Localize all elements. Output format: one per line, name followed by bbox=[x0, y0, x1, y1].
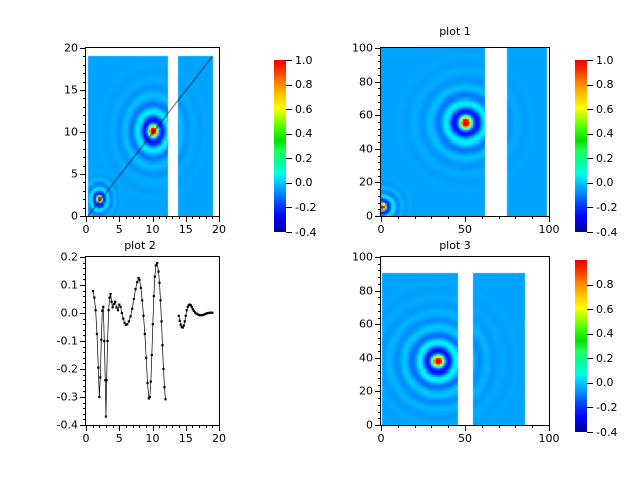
y-minor-tick bbox=[378, 371, 381, 372]
colorbar-tick-label: -0.4 bbox=[596, 227, 617, 238]
y-minor-tick bbox=[83, 324, 86, 325]
y-major-tick bbox=[80, 132, 86, 133]
plot2-marker bbox=[126, 323, 128, 325]
x-minor-tick bbox=[113, 425, 114, 428]
x-minor-tick bbox=[192, 216, 193, 219]
y-minor-tick bbox=[378, 61, 381, 62]
y-minor-tick bbox=[83, 65, 86, 66]
colorbar-tick-label: -0.2 bbox=[295, 202, 316, 213]
y-minor-tick bbox=[83, 358, 86, 359]
x-minor-tick bbox=[133, 425, 134, 428]
y-tick-label: 20 bbox=[46, 43, 78, 54]
y-tick-label: -0.1 bbox=[46, 336, 78, 347]
y-minor-tick bbox=[378, 122, 381, 123]
plot2-marker bbox=[121, 312, 123, 314]
x-minor-tick bbox=[398, 216, 399, 219]
x-major-tick bbox=[86, 425, 87, 431]
y-major-tick bbox=[375, 216, 381, 217]
colorbar-tick bbox=[587, 232, 593, 233]
plot2-marker bbox=[100, 339, 102, 341]
y-minor-tick bbox=[378, 203, 381, 204]
plot2-marker bbox=[154, 276, 156, 278]
colorbar-tick-label: -0.2 bbox=[596, 202, 617, 213]
y-minor-tick bbox=[83, 375, 86, 376]
plot2-marker bbox=[161, 344, 163, 346]
plot2-marker bbox=[142, 315, 144, 317]
plot3-colorbar bbox=[575, 260, 587, 432]
colorbar-tick bbox=[587, 60, 593, 61]
y-minor-tick bbox=[378, 297, 381, 298]
y-tick-label: 0 bbox=[46, 211, 78, 222]
colorbar-tick bbox=[286, 134, 292, 135]
x-minor-tick bbox=[415, 425, 416, 428]
plot2-marker bbox=[155, 264, 157, 266]
y-major-tick bbox=[80, 313, 86, 314]
y-major-tick bbox=[375, 48, 381, 49]
y-minor-tick bbox=[83, 149, 86, 150]
plot2-marker bbox=[185, 315, 187, 317]
y-tick-label: -0.2 bbox=[46, 364, 78, 375]
plot3-title: plot 3 bbox=[350, 240, 560, 252]
plot2-marker bbox=[164, 398, 166, 400]
y-tick-label: 40 bbox=[341, 143, 373, 154]
figure-canvas: -0.4-0.20.00.20.40.60.81.0 0510152005101… bbox=[0, 0, 640, 480]
plot2-marker bbox=[141, 299, 143, 301]
plot2-marker bbox=[158, 282, 160, 284]
colorbar-tick bbox=[587, 85, 593, 86]
plot2-marker bbox=[183, 325, 185, 327]
y-major-tick bbox=[375, 324, 381, 325]
x-minor-tick bbox=[499, 216, 500, 219]
y-minor-tick bbox=[83, 56, 86, 57]
y-minor-tick bbox=[378, 311, 381, 312]
plot2-marker bbox=[110, 293, 112, 295]
plot0-colorbar-gradient bbox=[274, 60, 286, 232]
colorbar-tick-label: 0.2 bbox=[295, 153, 313, 164]
y-minor-tick bbox=[83, 107, 86, 108]
y-tick-label: 100 bbox=[341, 43, 373, 54]
y-minor-tick bbox=[378, 398, 381, 399]
y-tick-label: 20 bbox=[341, 177, 373, 188]
y-minor-tick bbox=[83, 208, 86, 209]
colorbar-tick-label: 1.0 bbox=[295, 55, 313, 66]
y-minor-tick bbox=[378, 196, 381, 197]
y-minor-tick bbox=[83, 268, 86, 269]
x-minor-tick bbox=[166, 216, 167, 219]
x-minor-tick bbox=[179, 216, 180, 219]
y-minor-tick bbox=[83, 157, 86, 158]
plot0-colorbar-ticks: -0.4-0.20.00.20.40.60.81.0 bbox=[286, 60, 320, 232]
y-minor-tick bbox=[378, 162, 381, 163]
y-minor-tick bbox=[83, 124, 86, 125]
y-minor-tick bbox=[83, 199, 86, 200]
y-minor-tick bbox=[378, 405, 381, 406]
x-minor-tick bbox=[448, 216, 449, 219]
x-minor-tick bbox=[179, 425, 180, 428]
x-minor-tick bbox=[431, 216, 432, 219]
y-major-tick bbox=[375, 149, 381, 150]
y-major-tick bbox=[80, 397, 86, 398]
y-tick-label: 0 bbox=[341, 420, 373, 431]
x-major-tick bbox=[86, 216, 87, 222]
x-tick-label: 15 bbox=[179, 433, 193, 444]
plot2-marker bbox=[163, 386, 165, 388]
plot3-colorbar-ticks: -0.4-0.20.00.20.40.60.8 bbox=[587, 260, 627, 432]
plot2-line-series bbox=[86, 257, 219, 425]
colorbar-tick bbox=[587, 109, 593, 110]
y-minor-tick bbox=[83, 408, 86, 409]
plot3-colorbar-gradient bbox=[575, 260, 587, 432]
y-minor-tick bbox=[378, 88, 381, 89]
x-major-tick bbox=[119, 425, 120, 431]
y-minor-tick bbox=[83, 319, 86, 320]
x-tick-label: 50 bbox=[458, 433, 472, 444]
x-tick-label: 10 bbox=[146, 224, 160, 235]
y-major-tick bbox=[80, 369, 86, 370]
colorbar-tick bbox=[587, 358, 593, 359]
y-minor-tick bbox=[378, 176, 381, 177]
x-major-tick bbox=[465, 216, 466, 222]
x-tick-label: 20 bbox=[212, 433, 226, 444]
y-tick-label: 100 bbox=[341, 252, 373, 263]
x-minor-tick bbox=[515, 216, 516, 219]
y-minor-tick bbox=[378, 95, 381, 96]
x-minor-tick bbox=[139, 425, 140, 428]
x-minor-tick bbox=[146, 425, 147, 428]
x-minor-tick bbox=[159, 425, 160, 428]
y-major-tick bbox=[375, 115, 381, 116]
x-minor-tick bbox=[398, 425, 399, 428]
plot2-marker bbox=[140, 287, 142, 289]
plot2-marker bbox=[113, 303, 115, 305]
plot2-marker bbox=[92, 290, 94, 292]
plot2-marker bbox=[122, 318, 124, 320]
y-minor-tick bbox=[378, 169, 381, 170]
x-tick-label: 5 bbox=[116, 224, 123, 235]
y-tick-label: 80 bbox=[341, 285, 373, 296]
y-minor-tick bbox=[83, 352, 86, 353]
y-tick-label: 20 bbox=[341, 386, 373, 397]
y-minor-tick bbox=[83, 363, 86, 364]
x-minor-tick bbox=[532, 425, 533, 428]
colorbar-tick bbox=[286, 60, 292, 61]
colorbar-tick-label: 0.2 bbox=[596, 353, 614, 364]
colorbar-tick-label: 0.0 bbox=[295, 177, 313, 188]
colorbar-tick-label: 0.4 bbox=[596, 128, 614, 139]
colorbar-tick bbox=[587, 207, 593, 208]
x-minor-tick bbox=[146, 216, 147, 219]
plot2-marker bbox=[93, 297, 95, 299]
y-minor-tick bbox=[378, 318, 381, 319]
y-minor-tick bbox=[83, 347, 86, 348]
plot2-marker bbox=[138, 279, 140, 281]
y-major-tick bbox=[80, 425, 86, 426]
plot2-marker bbox=[117, 309, 119, 311]
plot2-marker bbox=[211, 312, 213, 314]
y-tick-label: 60 bbox=[341, 319, 373, 330]
plot2-marker bbox=[98, 396, 100, 398]
colorbar-tick bbox=[286, 183, 292, 184]
x-minor-tick bbox=[482, 216, 483, 219]
y-tick-label: 0 bbox=[341, 211, 373, 222]
y-minor-tick bbox=[83, 391, 86, 392]
plot2-marker bbox=[151, 354, 153, 356]
x-tick-label: 0 bbox=[83, 224, 90, 235]
colorbar-tick bbox=[587, 432, 593, 433]
y-tick-label: 60 bbox=[341, 110, 373, 121]
colorbar-tick bbox=[587, 134, 593, 135]
x-major-tick bbox=[119, 216, 120, 222]
plot3-plot-area bbox=[381, 257, 549, 425]
plot1-plot-area bbox=[381, 48, 549, 216]
x-minor-tick bbox=[166, 425, 167, 428]
x-major-tick bbox=[549, 216, 550, 222]
plot2-marker bbox=[145, 357, 147, 359]
colorbar-tick-label: 0.6 bbox=[596, 104, 614, 115]
y-minor-tick bbox=[378, 418, 381, 419]
plot2-marker bbox=[179, 320, 181, 322]
plot2-marker bbox=[133, 298, 135, 300]
y-tick-label: 15 bbox=[46, 85, 78, 96]
x-minor-tick bbox=[199, 216, 200, 219]
y-minor-tick bbox=[378, 55, 381, 56]
y-major-tick bbox=[80, 90, 86, 91]
y-major-tick bbox=[375, 358, 381, 359]
y-major-tick bbox=[375, 425, 381, 426]
plot2-marker bbox=[103, 340, 105, 342]
x-minor-tick bbox=[212, 425, 213, 428]
y-minor-tick bbox=[378, 135, 381, 136]
y-tick-label: 80 bbox=[341, 76, 373, 87]
x-tick-label: 10 bbox=[146, 433, 160, 444]
y-minor-tick bbox=[83, 419, 86, 420]
x-minor-tick bbox=[206, 216, 207, 219]
y-minor-tick bbox=[378, 385, 381, 386]
plot2-marker bbox=[184, 320, 186, 322]
y-minor-tick bbox=[83, 166, 86, 167]
y-minor-tick bbox=[83, 263, 86, 264]
plot2-marker bbox=[162, 368, 164, 370]
y-tick-label: -0.3 bbox=[46, 392, 78, 403]
subplot-plot1: plot 1 -0.4-0.20.00.20.40.60.81.0 050100… bbox=[320, 22, 640, 240]
plot2-marker bbox=[146, 382, 148, 384]
x-major-tick bbox=[549, 425, 550, 431]
colorbar-tick-label: 0.6 bbox=[295, 104, 313, 115]
x-minor-tick bbox=[106, 216, 107, 219]
y-minor-tick bbox=[378, 102, 381, 103]
y-minor-tick bbox=[83, 330, 86, 331]
colorbar-tick-label: 0.6 bbox=[596, 304, 614, 315]
plot2-marker bbox=[95, 309, 97, 311]
y-tick-label: 0.0 bbox=[46, 308, 78, 319]
x-minor-tick bbox=[113, 216, 114, 219]
plot2-marker bbox=[111, 301, 113, 303]
colorbar-tick-label: 0.0 bbox=[596, 377, 614, 388]
plot2-marker bbox=[131, 308, 133, 310]
y-minor-tick bbox=[378, 68, 381, 69]
y-minor-tick bbox=[83, 140, 86, 141]
plot2-marker bbox=[101, 310, 103, 312]
x-major-tick bbox=[219, 216, 220, 222]
y-tick-label: 0.1 bbox=[46, 280, 78, 291]
colorbar-tick bbox=[587, 285, 593, 286]
y-minor-tick bbox=[378, 331, 381, 332]
y-tick-label: -0.4 bbox=[46, 420, 78, 431]
y-major-tick bbox=[80, 285, 86, 286]
plot0-heatmap-image bbox=[86, 48, 219, 216]
x-minor-tick bbox=[515, 425, 516, 428]
x-tick-label: 100 bbox=[539, 224, 560, 235]
y-minor-tick bbox=[378, 264, 381, 265]
x-major-tick bbox=[153, 425, 154, 431]
x-minor-tick bbox=[172, 216, 173, 219]
plot2-marker bbox=[160, 320, 162, 322]
y-minor-tick bbox=[83, 335, 86, 336]
y-major-tick bbox=[375, 391, 381, 392]
x-minor-tick bbox=[159, 216, 160, 219]
x-minor-tick bbox=[499, 425, 500, 428]
y-minor-tick bbox=[378, 365, 381, 366]
y-minor-tick bbox=[83, 386, 86, 387]
plot2-marker bbox=[99, 376, 101, 378]
x-minor-tick bbox=[448, 425, 449, 428]
subplot-plot3: plot 3 -0.4-0.20.00.20.40.60.8 050100020… bbox=[320, 238, 640, 480]
plot2-marker bbox=[137, 277, 139, 279]
y-major-tick bbox=[80, 174, 86, 175]
plot2-marker bbox=[108, 309, 110, 311]
y-minor-tick bbox=[83, 73, 86, 74]
colorbar-tick-label: 0.2 bbox=[596, 153, 614, 164]
colorbar-tick bbox=[286, 85, 292, 86]
y-tick-label: 0.2 bbox=[46, 252, 78, 263]
y-minor-tick bbox=[83, 191, 86, 192]
y-minor-tick bbox=[83, 307, 86, 308]
y-minor-tick bbox=[378, 270, 381, 271]
x-minor-tick bbox=[126, 425, 127, 428]
colorbar-tick bbox=[587, 407, 593, 408]
colorbar-tick-label: 0.4 bbox=[596, 328, 614, 339]
x-minor-tick bbox=[172, 425, 173, 428]
plot0-plot-area bbox=[86, 48, 219, 216]
plot1-colorbar-gradient bbox=[575, 60, 587, 232]
plot2-marker bbox=[96, 333, 98, 335]
y-minor-tick bbox=[378, 351, 381, 352]
x-tick-label: 50 bbox=[458, 224, 472, 235]
x-minor-tick bbox=[199, 425, 200, 428]
plot2-marker bbox=[109, 297, 111, 299]
x-tick-label: 0 bbox=[83, 433, 90, 444]
y-minor-tick bbox=[83, 98, 86, 99]
x-major-tick bbox=[153, 216, 154, 222]
plot0-colorbar bbox=[274, 60, 286, 232]
plot2-marker bbox=[107, 340, 109, 342]
plot1-colorbar bbox=[575, 60, 587, 232]
x-minor-tick bbox=[93, 425, 94, 428]
plot2-marker bbox=[144, 333, 146, 335]
plot2-marker bbox=[182, 326, 184, 328]
colorbar-tick bbox=[587, 158, 593, 159]
x-minor-tick bbox=[93, 216, 94, 219]
subplot-plot0: -0.4-0.20.00.20.40.60.81.0 0510152005101… bbox=[0, 22, 320, 240]
plot1-heatmap-image bbox=[381, 48, 549, 216]
plot2-marker bbox=[156, 262, 158, 264]
y-minor-tick bbox=[83, 380, 86, 381]
y-major-tick bbox=[375, 82, 381, 83]
colorbar-tick bbox=[286, 109, 292, 110]
colorbar-tick bbox=[286, 207, 292, 208]
y-tick-label: 5 bbox=[46, 169, 78, 180]
plot1-colorbar-ticks: -0.4-0.20.00.20.40.60.81.0 bbox=[587, 60, 627, 232]
y-minor-tick bbox=[83, 403, 86, 404]
plot2-line-segment-a bbox=[93, 263, 165, 416]
colorbar-tick-label: -0.4 bbox=[295, 227, 316, 238]
colorbar-tick-label: 0.8 bbox=[596, 279, 614, 290]
y-minor-tick bbox=[378, 338, 381, 339]
x-minor-tick bbox=[532, 216, 533, 219]
y-minor-tick bbox=[378, 304, 381, 305]
x-tick-label: 0 bbox=[378, 433, 385, 444]
plot2-marker bbox=[136, 281, 138, 283]
colorbar-tick bbox=[587, 309, 593, 310]
colorbar-tick-label: 1.0 bbox=[596, 55, 614, 66]
plot2-title: plot 2 bbox=[0, 240, 280, 252]
y-minor-tick bbox=[83, 296, 86, 297]
plot2-marker bbox=[106, 379, 108, 381]
plot1-title: plot 1 bbox=[350, 26, 560, 38]
plot2-marker bbox=[149, 396, 151, 398]
y-tick-label: 40 bbox=[341, 352, 373, 363]
y-major-tick bbox=[375, 291, 381, 292]
y-minor-tick bbox=[378, 129, 381, 130]
x-major-tick bbox=[381, 425, 382, 431]
y-minor-tick bbox=[378, 378, 381, 379]
x-major-tick bbox=[219, 425, 220, 431]
y-major-tick bbox=[80, 257, 86, 258]
colorbar-tick-label: 0.0 bbox=[596, 177, 614, 188]
plot2-marker bbox=[123, 322, 125, 324]
x-minor-tick bbox=[106, 425, 107, 428]
plot2-marker bbox=[186, 309, 188, 311]
y-minor-tick bbox=[378, 156, 381, 157]
y-major-tick bbox=[80, 341, 86, 342]
y-minor-tick bbox=[378, 344, 381, 345]
plot2-plot-area bbox=[86, 257, 219, 425]
y-minor-tick bbox=[83, 182, 86, 183]
x-tick-label: 5 bbox=[116, 433, 123, 444]
plot2-marker bbox=[150, 381, 152, 383]
y-minor-tick bbox=[378, 277, 381, 278]
plot2-marker bbox=[115, 306, 117, 308]
y-major-tick bbox=[80, 48, 86, 49]
x-major-tick bbox=[465, 425, 466, 431]
x-minor-tick bbox=[126, 216, 127, 219]
subplot-plot2: plot 2 05101520-0.4-0.3-0.2-0.10.00.10.2 bbox=[0, 238, 320, 480]
x-major-tick bbox=[186, 425, 187, 431]
colorbar-tick-label: 0.4 bbox=[295, 128, 313, 139]
x-tick-label: 100 bbox=[539, 433, 560, 444]
x-minor-tick bbox=[482, 425, 483, 428]
plot2-marker bbox=[119, 306, 121, 308]
y-minor-tick bbox=[83, 302, 86, 303]
y-minor-tick bbox=[378, 109, 381, 110]
y-minor-tick bbox=[83, 274, 86, 275]
x-minor-tick bbox=[139, 216, 140, 219]
plot2-marker bbox=[152, 323, 154, 325]
y-minor-tick bbox=[378, 209, 381, 210]
plot2-marker bbox=[129, 315, 131, 317]
x-minor-tick bbox=[192, 425, 193, 428]
plot2-marker bbox=[180, 324, 182, 326]
